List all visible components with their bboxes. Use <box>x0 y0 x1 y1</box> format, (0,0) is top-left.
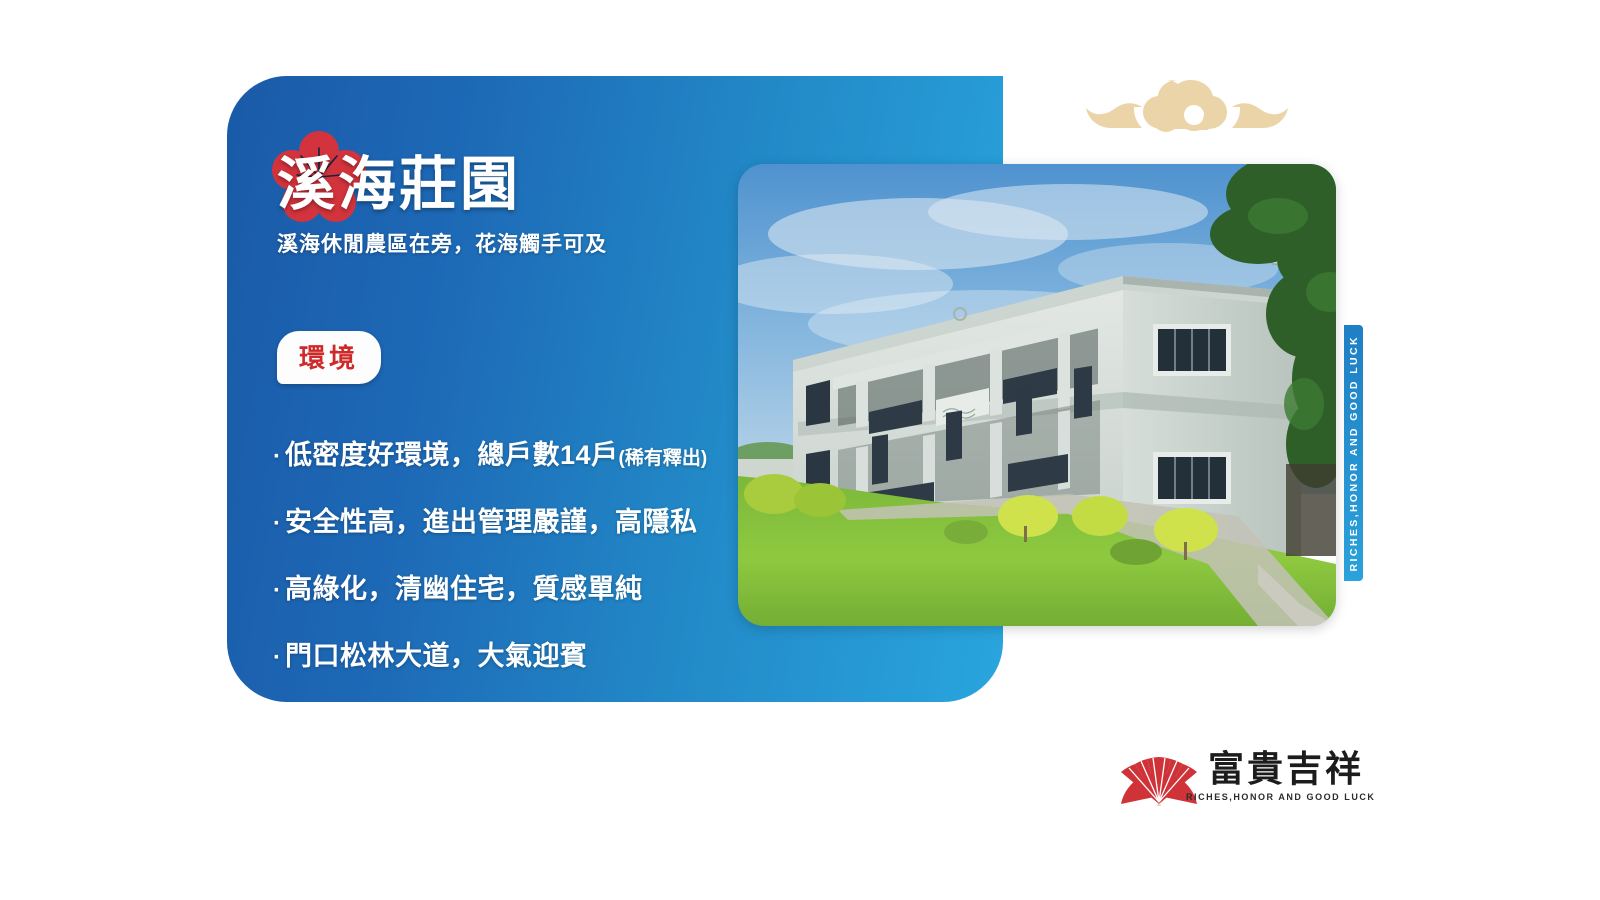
page-title: 溪海莊園 <box>277 156 737 214</box>
bullet-marker: · <box>273 579 281 603</box>
list-item: · 門口松林大道，大氣迎賓 <box>273 634 963 673</box>
side-tab: RICHES,HONOR AND GOOD LUCK <box>1344 325 1363 581</box>
section-badge-label: 環境 <box>299 343 359 373</box>
bullet-text: 低密度好環境，總戶數14戶 <box>285 433 619 472</box>
building-photo <box>738 164 1336 626</box>
bullet-text: 高綠化，清幽住宅，質感單純 <box>285 567 643 606</box>
slide-canvas: 溪海莊園 溪海休閒農區在旁，花海觸手可及 環境 · 低密度好環境，總戶數14戶 … <box>0 0 1600 900</box>
bullet-text: 安全性高，進出管理嚴謹，高隱私 <box>285 500 698 539</box>
brand-logo: 富貴吉祥 RICHES,HONOR AND GOOD LUCK <box>1120 748 1350 810</box>
section-badge: 環境 <box>277 331 381 384</box>
auspicious-cloud-icon <box>1082 74 1292 146</box>
bullet-marker: · <box>273 646 281 670</box>
bullet-marker: · <box>273 445 281 469</box>
bullet-note: (稀有釋出) <box>619 443 708 470</box>
brand-name-cn: 富貴吉祥 <box>1208 748 1364 789</box>
bullet-text: 門口松林大道，大氣迎賓 <box>285 634 588 673</box>
bullet-marker: · <box>273 512 281 536</box>
brand-tagline-en: RICHES,HONOR AND GOOD LUCK <box>1186 792 1375 802</box>
side-tab-label: RICHES,HONOR AND GOOD LUCK <box>1348 335 1360 571</box>
page-subtitle: 溪海休閒農區在旁，花海觸手可及 <box>277 228 737 258</box>
title-block: 溪海莊園 溪海休閒農區在旁，花海觸手可及 <box>277 156 737 258</box>
